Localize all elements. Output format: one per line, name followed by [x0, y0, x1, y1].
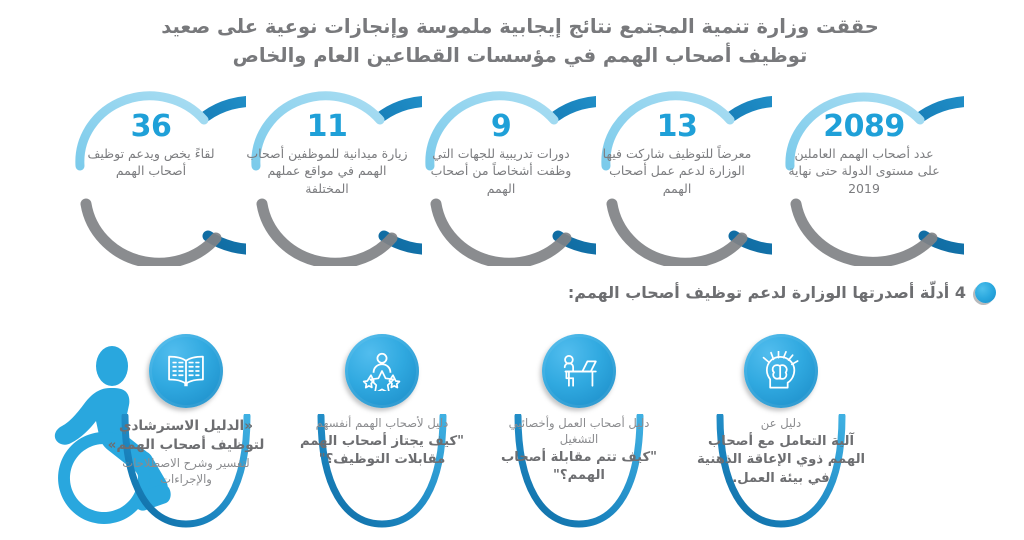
- stat-card: 36 لقاءً يخص ويدعم توظيف أصحاب الهمم: [56, 86, 246, 266]
- stat-number: 11: [246, 112, 408, 143]
- infographic-canvas: حققت وزارة تنمية المجتمع نتائج إيجابية م…: [0, 0, 1024, 540]
- guide-subtitle: لتفسير وشرح الاصطلاحات والإجراءات: [101, 456, 271, 488]
- guides-row: «الدليل الاسترشادي لتوظيف أصحاب الهمم» ل…: [0, 330, 1024, 540]
- guide-title: «الدليل الاسترشادي لتوظيف أصحاب الهمم»: [101, 417, 271, 455]
- stat-description: معرضاً للتوظيف شاركت فيها الوزارة لدعم ع…: [596, 145, 758, 198]
- guide-text: دليل أصحاب العمل وأخصائيي التشغيل "كيف ت…: [494, 416, 664, 487]
- guide-text: «الدليل الاسترشادي لتوظيف أصحاب الهمم» ل…: [101, 416, 271, 488]
- person-stars-icon: [345, 334, 419, 408]
- stat-number: 9: [420, 112, 582, 143]
- stat-description: زيارة ميدانية للموظفين أصحاب الهمم في مو…: [246, 145, 408, 198]
- stat-number: 13: [596, 112, 758, 143]
- stat-card: 13 معرضاً للتوظيف شاركت فيها الوزارة لدع…: [582, 86, 772, 266]
- guide-sub: دليل عن: [696, 416, 866, 432]
- section-header: 4 أدلّة أصدرتها الوزارة لدعم توظيف أصحاب…: [568, 282, 996, 303]
- stat-number: 36: [70, 112, 232, 143]
- guide-text: دليل عن آلية التعامل مع أصحاب الهمم ذوي …: [696, 416, 866, 489]
- guide-card: دليل لأصحاب الهمم أنفسهم "كيف يجتاز أصحا…: [291, 330, 473, 540]
- stat-number: 2089: [782, 112, 946, 143]
- stat-card: 2089 عدد أصحاب الهمم العاملين على مستوى …: [764, 86, 964, 266]
- guide-sub: دليل أصحاب العمل وأخصائيي التشغيل: [494, 416, 664, 448]
- stat-description: دورات تدريبية للجهات التي وظفت أشخاصاً م…: [420, 145, 582, 198]
- section-title: 4 أدلّة أصدرتها الوزارة لدعم توظيف أصحاب…: [568, 283, 966, 302]
- person-at-desk-icon: [542, 334, 616, 408]
- guide-card: دليل عن آلية التعامل مع أصحاب الهمم ذوي …: [690, 330, 872, 540]
- page-title: حققت وزارة تنمية المجتمع نتائج إيجابية م…: [140, 12, 900, 71]
- guide-title: "كيف يجتاز أصحاب الهمم مقابلات التوظيف؟": [297, 433, 467, 470]
- guide-title: آلية التعامل مع أصحاب الهمم ذوي الإعاقة …: [696, 433, 866, 488]
- guide-title: "كيف تتم مقابلة أصحاب الهمم؟": [494, 449, 664, 486]
- blue-circle-bullet-icon: [975, 282, 996, 303]
- guide-sub: دليل لأصحاب الهمم أنفسهم: [297, 416, 467, 432]
- guide-card: «الدليل الاسترشادي لتوظيف أصحاب الهمم» ل…: [95, 330, 277, 540]
- guide-card: دليل أصحاب العمل وأخصائيي التشغيل "كيف ت…: [488, 330, 670, 540]
- stat-description: عدد أصحاب الهمم العاملين على مستوى الدول…: [782, 145, 946, 198]
- open-book-icon: [149, 334, 223, 408]
- stat-description: لقاءً يخص ويدعم توظيف أصحاب الهمم: [70, 145, 232, 181]
- guide-text: دليل لأصحاب الهمم أنفسهم "كيف يجتاز أصحا…: [297, 416, 467, 471]
- stat-card: 11 زيارة ميدانية للموظفين أصحاب الهمم في…: [232, 86, 422, 266]
- stat-card: 9 دورات تدريبية للجهات التي وظفت أشخاصاً…: [406, 86, 596, 266]
- stats-row: 36 لقاءً يخص ويدعم توظيف أصحاب الهمم 11 …: [0, 86, 1024, 266]
- head-brain-icon: [744, 334, 818, 408]
